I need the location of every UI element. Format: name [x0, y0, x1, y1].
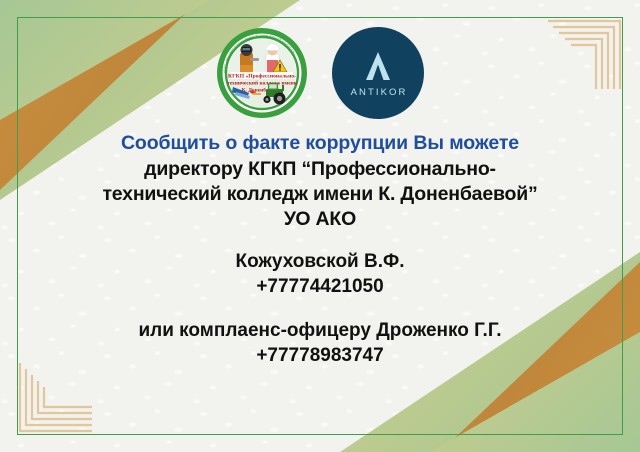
antikor-logo-icon: ANTIKOR	[332, 27, 424, 119]
college-emblem-icon: КГКП «Профессионально- технический колле…	[216, 27, 308, 119]
primary-contact-name: Кожуховской В.Ф.	[30, 250, 610, 275]
bottom-left-corner-ornament-icon	[18, 360, 94, 434]
secondary-contact-phone[interactable]: +77778983747	[30, 344, 610, 369]
antikor-wordmark: ANTIKOR	[348, 87, 407, 98]
svg-text:технический колледж имени: технический колледж имени	[227, 79, 297, 86]
logo-row: КГКП «Профессионально- технический колле…	[0, 27, 640, 119]
svg-text:КГКП «Профессионально-: КГКП «Профессионально-	[228, 73, 296, 80]
primary-contact-phone[interactable]: +77774421050	[30, 275, 610, 300]
secondary-contact-name: или комплаенс-офицеру Дроженко Г.Г.	[30, 319, 610, 344]
lead-heading: Сообщить о факте коррупции Вы можете	[30, 132, 610, 155]
message-block: Сообщить о факте коррупции Вы можете дир…	[30, 132, 610, 369]
organization-line-1: директору КГКП “Профессионально-	[30, 157, 610, 182]
organization-line-2: технический колледж имени К. Доненбаевой…	[30, 182, 610, 207]
organization-name: директору КГКП “Профессионально- техниче…	[30, 157, 610, 232]
antikor-lambda-mark-icon	[361, 49, 395, 83]
primary-contact: Кожуховской В.Ф. +77774421050	[30, 250, 610, 299]
organization-line-3: УО АКО	[30, 207, 610, 232]
poster-root: КГКП «Профессионально- технический колле…	[0, 0, 640, 452]
secondary-contact: или комплаенс-офицеру Дроженко Г.Г. +777…	[30, 319, 610, 368]
